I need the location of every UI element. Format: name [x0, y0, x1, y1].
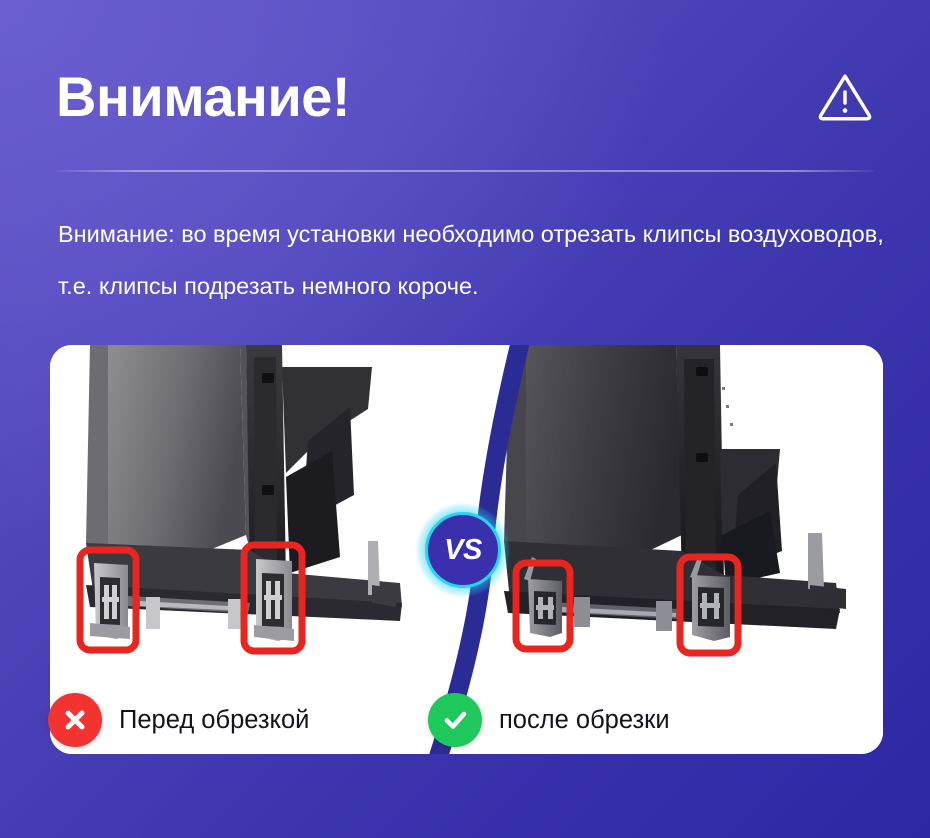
header: Внимание! — [56, 58, 880, 136]
vs-label: VS — [444, 534, 482, 567]
vs-badge: VS — [417, 504, 509, 596]
page-title: Внимание! — [56, 66, 350, 128]
vs-circle: VS — [425, 512, 501, 588]
after-label: после обрезки — [499, 706, 670, 735]
warning-infographic: Внимание! Внимание: во время установки н… — [0, 0, 930, 838]
cross-icon — [48, 693, 102, 747]
warning-body-text: Внимание: во время установки необходимо … — [58, 208, 890, 312]
header-divider — [56, 170, 874, 172]
check-icon — [428, 693, 482, 747]
before-label: Перед обрезкой — [119, 706, 309, 735]
before-label-row: Перед обрезкой — [48, 693, 309, 747]
after-label-row: после обрезки — [428, 693, 670, 747]
warning-triangle-icon — [816, 68, 874, 126]
